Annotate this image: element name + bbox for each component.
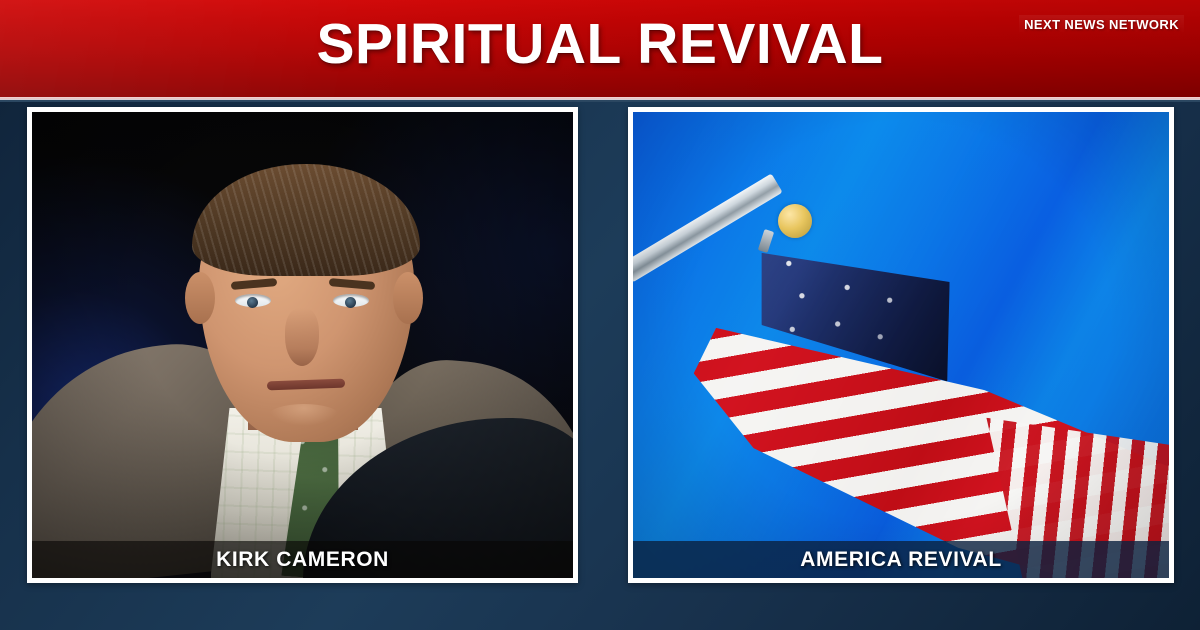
chin <box>269 404 339 426</box>
eye-left <box>235 294 271 307</box>
banner-divider-shadow <box>0 100 1200 102</box>
photo-panel-left[interactable]: KIRK CAMERON <box>27 107 578 583</box>
flag-finial-icon <box>778 204 812 238</box>
eye-right <box>333 294 369 307</box>
news-graphic-stage: SPIRITUAL REVIVAL NEXT NEWS NETWORK <box>0 0 1200 630</box>
caption-label-left: KIRK CAMERON <box>216 548 389 572</box>
caption-bar-right: AMERICA REVIVAL <box>633 541 1169 578</box>
caption-label-right: AMERICA REVIVAL <box>800 548 1002 572</box>
pupil-left <box>247 297 258 308</box>
caption-bar-left: KIRK CAMERON <box>32 541 573 578</box>
nose <box>285 308 319 366</box>
ear-left <box>185 272 215 324</box>
flag-photo: AMERICA REVIVAL <box>633 112 1169 578</box>
ear-right <box>393 272 423 324</box>
network-branding: NEXT NEWS NETWORK <box>1019 15 1184 34</box>
pupil-right <box>345 297 356 308</box>
header-banner: SPIRITUAL REVIVAL NEXT NEWS NETWORK <box>0 0 1200 97</box>
photo-panel-right[interactable]: AMERICA REVIVAL <box>628 107 1174 583</box>
portrait-photo: KIRK CAMERON <box>32 112 573 578</box>
